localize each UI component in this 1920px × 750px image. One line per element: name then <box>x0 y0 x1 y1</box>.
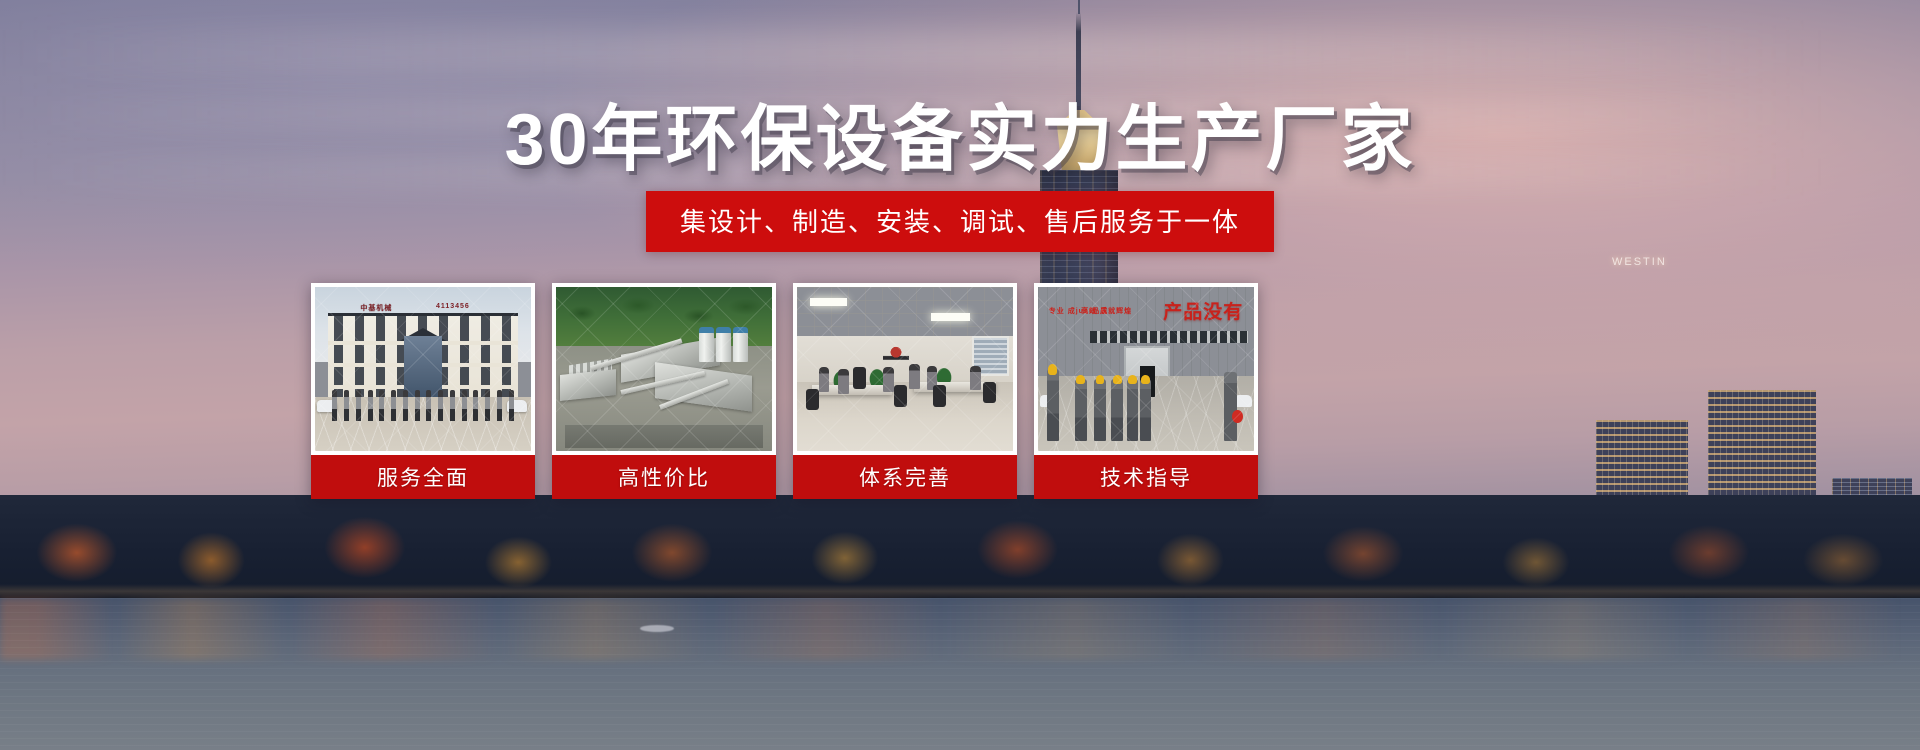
warehouse-slogan-right: 高效 成就辉煌 <box>1081 308 1132 317</box>
aerial-production-plant-photo <box>556 287 772 451</box>
page-title: 30年环保设备实力生产厂家 <box>0 104 1920 176</box>
boat <box>640 625 674 632</box>
company-headquarters-building-photo: 中基机械 4113456 <box>315 287 531 451</box>
feature-card[interactable]: 产品没有 专业 成just品质 高效 成就辉煌 技术指导 <box>1034 283 1258 499</box>
photo-sign-phone: 4113456 <box>436 303 470 310</box>
westin-sign-label: WESTIN <box>1612 256 1667 268</box>
river-water <box>0 598 1920 750</box>
card-caption: 体系完善 <box>793 455 1017 499</box>
card-caption: 技术指导 <box>1034 455 1258 499</box>
feature-card[interactable]: 体系完善 <box>793 283 1017 499</box>
card-caption: 高性价比 <box>552 455 776 499</box>
office-interior-staff-photo <box>797 287 1013 451</box>
warehouse-wall-text: 产品没有 <box>1163 297 1243 324</box>
factory-workers-briefing-photo: 产品没有 专业 成just品质 高效 成就辉煌 <box>1038 287 1254 451</box>
subtitle-badge: 集设计、制造、安装、调试、售后服务于一体 <box>646 191 1274 252</box>
riverside-park-band <box>0 495 1920 600</box>
cloud-band <box>0 30 1920 76</box>
photo-sign-logo: 中基机械 <box>360 303 392 313</box>
feature-card-list: 中基机械 4113456 服务全面 <box>311 283 1258 499</box>
feature-card[interactable]: 高性价比 <box>552 283 776 499</box>
hero-banner: WESTIN 30年环保设备实力生产厂家 集设计、制造、安装、调试、售后服务于一… <box>0 0 1920 750</box>
card-caption: 服务全面 <box>311 455 535 499</box>
feature-card[interactable]: 中基机械 4113456 服务全面 <box>311 283 535 499</box>
water-sheen <box>0 598 1920 750</box>
